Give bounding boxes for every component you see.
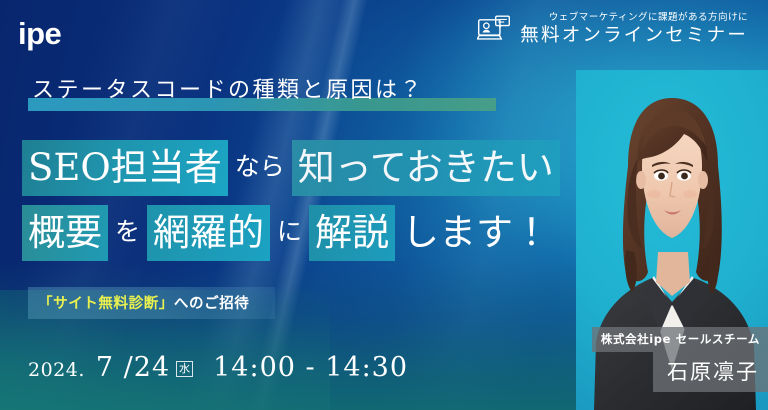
event-year: 2024. xyxy=(28,359,85,381)
seminar-eyebrow: ウェブマーケティングに課題がある方向けに xyxy=(549,12,748,23)
headline-line-2: 概要 を 網羅的 に 解説 します！ xyxy=(22,203,560,261)
seminar-title: 無料オンラインセミナー xyxy=(520,24,748,47)
presenter-nameplate: 株式会社ipe セールスチーム 石原凛子 xyxy=(592,327,768,392)
presenter-name: 石原凛子 xyxy=(653,352,768,392)
headline-chunk-highlight: 解説 xyxy=(309,205,395,261)
event-datetime: 2024. 7 /24 水 14:00 - 14:30 xyxy=(28,352,408,383)
headline-chunk-highlight: 網羅的 xyxy=(147,205,270,261)
headline-chunk-highlight: 概要 xyxy=(22,205,108,261)
headline-block: SEO担当者 なら 知っておきたい 概要 を 網羅的 に 解説 します！ xyxy=(22,138,560,261)
headline-chunk-plain: に xyxy=(270,203,309,261)
event-time-range: 14:00 - 14:30 xyxy=(213,352,408,383)
free-online-seminar-badge: ウェブマーケティングに課題がある方向けに 無料オンラインセミナー xyxy=(477,12,748,48)
headline-chunk-highlight: 知っておきたい xyxy=(292,140,560,196)
seminar-banner: ipe ウェブマーケティングに課題がある方向けに 無料オンラインセミナー ステー… xyxy=(0,0,768,410)
headline-line-1: SEO担当者 なら 知っておきたい xyxy=(22,138,560,196)
event-dayofweek: 水 xyxy=(176,361,193,377)
event-date: 7 /24 xyxy=(96,352,170,383)
ipe-logo[interactable]: ipe xyxy=(18,18,61,49)
headline-chunk-plain: します！ xyxy=(395,205,557,261)
headline-chunk-highlight: SEO担当者 xyxy=(22,140,228,196)
headline-chunk-plain: なら xyxy=(228,138,292,196)
presenter-company: 株式会社ipe セールスチーム xyxy=(592,327,768,352)
subtitle-text: ステータスコードの種類と原因は？ xyxy=(28,72,428,110)
invitation-rest-text: へのご招待 xyxy=(174,296,250,312)
seminar-badge-text: ウェブマーケティングに課題がある方向けに 無料オンラインセミナー xyxy=(520,12,748,48)
invitation-highlight-text: 「サイト無料診断」 xyxy=(38,296,174,312)
invitation-banner: 「サイト無料診断」へのご招待 xyxy=(28,287,275,319)
online-seminar-laptop-icon xyxy=(477,15,511,45)
headline-chunk-plain: を xyxy=(108,203,147,261)
subtitle-block: ステータスコードの種類と原因は？ xyxy=(28,72,428,110)
